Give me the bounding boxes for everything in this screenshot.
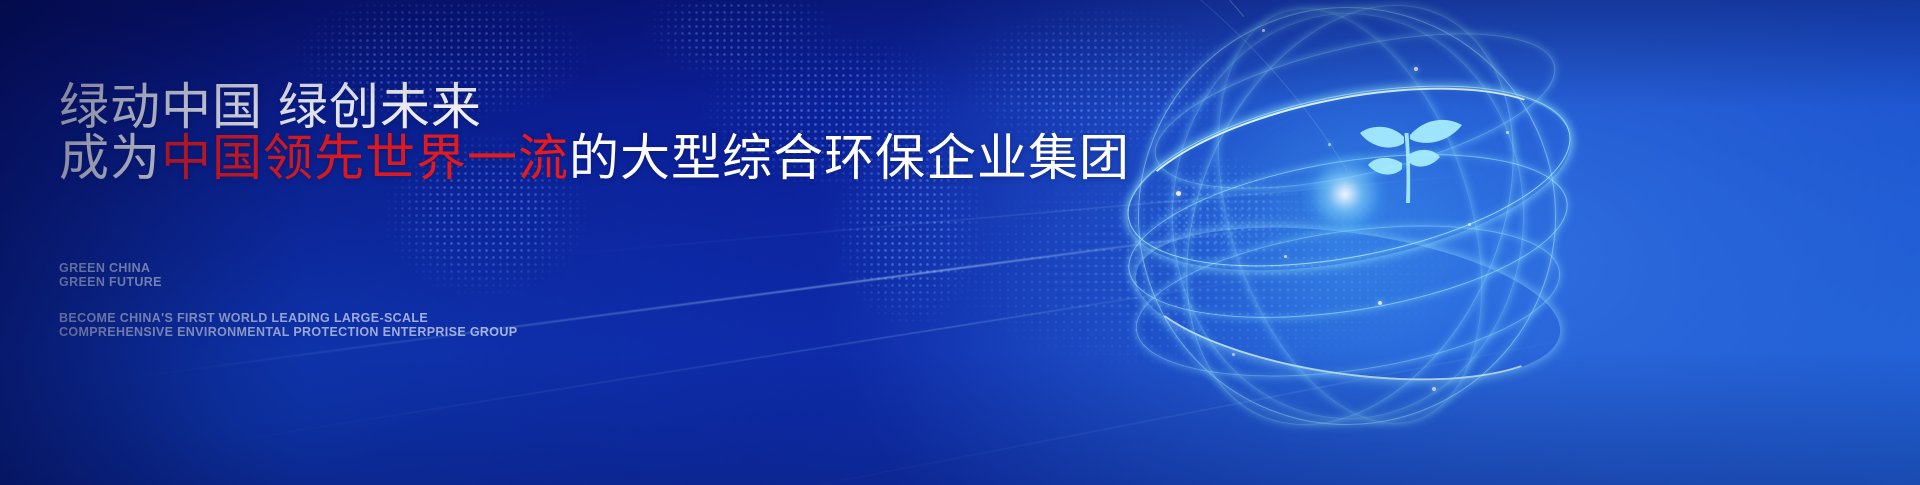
headline-line-1: 绿动中国 绿创未来 bbox=[59, 82, 482, 132]
hero-banner: 绿动中国 绿创未来 成为中国领先世界一流的大型综合环保企业集团 GREEN CH… bbox=[0, 0, 1920, 485]
mission-english-line-1: BECOME CHINA'S FIRST WORLD LEADING LARGE… bbox=[59, 311, 517, 325]
slogan-english-line-2: GREEN FUTURE bbox=[59, 275, 162, 289]
slogan-english-line-1: GREEN CHINA bbox=[59, 261, 162, 275]
headline-line-1-text: 绿动中国 绿创未来 bbox=[59, 79, 482, 135]
mission-english: BECOME CHINA'S FIRST WORLD LEADING LARGE… bbox=[59, 311, 517, 339]
banner-text-block: 绿动中国 绿创未来 成为中国领先世界一流的大型综合环保企业集团 GREEN CH… bbox=[59, 0, 1059, 485]
headline-line-2-prefix: 成为 bbox=[59, 130, 161, 186]
headline-line-2-suffix: 的大型综合环保企业集团 bbox=[569, 130, 1130, 186]
headline-line-2-highlight: 中国领先世界一流 bbox=[161, 130, 569, 186]
slogan-english: GREEN CHINA GREEN FUTURE bbox=[59, 261, 162, 289]
mission-english-line-2: COMPREHENSIVE ENVIRONMENTAL PROTECTION E… bbox=[59, 325, 517, 339]
headline-line-2: 成为中国领先世界一流的大型综合环保企业集团 bbox=[59, 133, 1130, 183]
